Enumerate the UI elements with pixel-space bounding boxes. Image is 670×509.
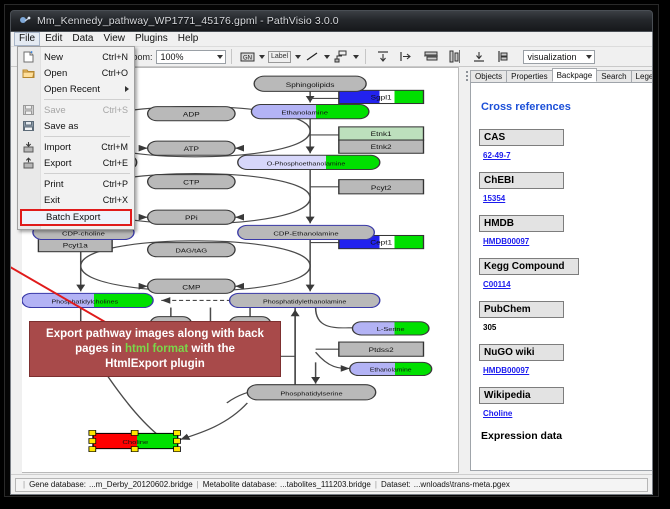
menu-item-accel: Ctrl+E: [103, 158, 128, 168]
node-phosphatidylethanolamine[interactable]: Phosphatidylethanolamine: [230, 293, 380, 307]
metabolite-database-label: Metabolite database:: [203, 480, 277, 489]
node-phosphatidylcholines[interactable]: Phosphatidylcholines: [22, 293, 153, 307]
menu-item-export[interactable]: Export Ctrl+E: [18, 155, 134, 171]
node-label: O-Phosphoethanolamine: [267, 161, 346, 167]
menu-item-print[interactable]: Print Ctrl+P: [18, 176, 134, 192]
toolbar-separator: [365, 49, 366, 64]
node-label: ATP: [184, 145, 200, 153]
tab-properties[interactable]: Properties: [506, 70, 552, 82]
menubar: File Edit Data View Plugins Help: [11, 32, 652, 47]
node-o-phosphoethanolamine[interactable]: O-Phosphoethanolamine: [238, 155, 380, 169]
node-dag-tag[interactable]: DAG/tAG: [148, 243, 235, 257]
tab-legend[interactable]: Legend: [631, 70, 653, 82]
align-middle-icon[interactable]: [447, 49, 464, 65]
annotation-callout: Export pathway images along with back pa…: [29, 321, 281, 377]
pathvisio-app-icon: [19, 15, 31, 27]
align-left-icon[interactable]: [398, 49, 415, 65]
menu-item-batch-export[interactable]: Batch Export: [20, 209, 132, 226]
side-panel-tabs: Objects Properties Backpage Search Legen…: [470, 69, 653, 83]
screenshot-frame: Mm_Kennedy_pathway_WP1771_45176.gpml - P…: [0, 0, 670, 509]
folder-icon: [22, 67, 35, 79]
toolbar-separator: [231, 49, 232, 64]
xref-source-nugo: NuGO wiki: [479, 344, 564, 361]
node-l-serine[interactable]: L-Serine: [352, 322, 428, 335]
menu-item-accel: Ctrl+P: [103, 179, 128, 189]
node-label: CDP-choline: [62, 231, 105, 237]
receptor-shape-icon[interactable]: [333, 49, 350, 65]
xref-value-wikipedia[interactable]: Choline: [483, 409, 645, 418]
xref-source-pubchem: PubChem: [479, 301, 564, 318]
node-cmp[interactable]: CMP: [148, 279, 235, 293]
application-window: File Edit Data View Plugins Help Zoom: 1…: [10, 32, 653, 495]
node-label: CTP: [183, 179, 200, 187]
node-label: Sphingolipids: [286, 81, 335, 89]
menu-item-label: Export: [44, 158, 71, 169]
tab-backpage[interactable]: Backpage: [552, 68, 598, 82]
side-panel: Objects Properties Backpage Search Legen…: [464, 67, 653, 473]
menu-item-save: Save Ctrl+S: [18, 102, 134, 118]
chevron-down-icon: [586, 55, 592, 59]
node-label: Phosphatidylserine: [280, 391, 343, 397]
xref-source-cas: CAS: [479, 129, 564, 146]
status-text-area: | Gene database: ...m_Derby_20120602.bri…: [15, 478, 648, 492]
node-label: CMP: [182, 283, 200, 291]
tab-objects[interactable]: Objects: [470, 70, 507, 82]
metabolite-database-value: ...tabolites_111203.bridge: [280, 480, 371, 489]
menu-separator: [44, 173, 130, 174]
menu-item-label: New: [44, 52, 63, 63]
menu-item-exit[interactable]: Exit Ctrl+X: [18, 192, 134, 208]
expression-data-heading: Expression data: [481, 430, 645, 442]
callout-highlight-text: html format: [125, 343, 188, 355]
xref-value-hmdb[interactable]: HMDB00097: [483, 237, 645, 246]
menu-item-label: Batch Export: [46, 212, 100, 223]
align-center-icon[interactable]: [423, 49, 440, 65]
menu-item-label: Exit: [44, 195, 60, 206]
menu-item-open-recent[interactable]: Open Recent: [18, 81, 134, 97]
menu-item-accel: Ctrl+S: [103, 105, 128, 115]
save-as-icon: [22, 120, 35, 132]
menu-item-open[interactable]: Open Ctrl+O: [18, 65, 134, 81]
menu-item-accel: Ctrl+N: [102, 52, 128, 62]
node-ppi[interactable]: PPi: [148, 210, 235, 224]
chevron-down-icon[interactable]: [259, 55, 265, 59]
node-ctp[interactable]: CTP: [148, 175, 235, 189]
chevron-down-icon: [217, 55, 223, 59]
node-adp[interactable]: ADP: [148, 107, 235, 121]
dataset-label: Dataset:: [381, 480, 411, 489]
callout-line-2-part-b: with the: [188, 343, 235, 355]
xref-source-chebi: ChEBI: [479, 172, 564, 189]
xref-value-cas[interactable]: 62-49-7: [483, 151, 645, 160]
node-sphingolipids[interactable]: Sphingolipids: [254, 76, 366, 91]
export-icon: [22, 157, 35, 169]
rail-dot-icon: [466, 71, 468, 73]
menu-data[interactable]: Data: [67, 32, 98, 46]
window-title: Mm_Kennedy_pathway_WP1771_45176.gpml - P…: [37, 15, 339, 27]
node-label: ADP: [183, 111, 200, 119]
dataset-value: ...wnloads\trans-meta.pgex: [414, 480, 510, 489]
menu-item-accel: Ctrl+M: [101, 142, 128, 152]
menu-item-label: Save as: [44, 121, 78, 132]
menu-help[interactable]: Help: [173, 32, 204, 46]
node-label: CDP-Ethanolamine: [273, 231, 339, 237]
gene-node-pcyt2[interactable]: Pcyt2: [339, 180, 424, 194]
label-icon[interactable]: Label: [268, 49, 292, 65]
gene-label: Sgpl1: [371, 94, 392, 102]
menu-plugins[interactable]: Plugins: [130, 32, 173, 46]
gene-label: Cept1: [370, 239, 392, 247]
menu-item-accel: Ctrl+X: [103, 195, 128, 205]
gene-label: Pcyt1a: [63, 242, 88, 250]
node-label: DAG/tAG: [175, 249, 207, 255]
svg-text:GN: GN: [243, 55, 252, 61]
node-choline-selected[interactable]: Choline: [89, 430, 180, 451]
xref-value-nugo[interactable]: HMDB00097: [483, 366, 645, 375]
save-icon: [22, 104, 35, 116]
xref-source-hmdb: HMDB: [479, 215, 564, 232]
menu-item-label: Import: [44, 142, 71, 153]
gene-label: Pcyt2: [371, 184, 391, 192]
status-divider: |: [375, 480, 377, 489]
chevron-down-icon[interactable]: [324, 55, 330, 59]
import-icon: [22, 141, 35, 153]
status-divider: |: [197, 480, 199, 489]
menu-item-label: Open: [44, 68, 67, 79]
xref-value-pubchem: 305: [483, 323, 645, 332]
menu-separator: [44, 99, 130, 100]
node-atp[interactable]: ATP: [148, 141, 235, 155]
callout-line-3: HtmlExport plugin: [105, 357, 205, 372]
tab-search[interactable]: Search: [596, 70, 631, 82]
node-label: Ethanolamine: [281, 110, 328, 116]
menu-view[interactable]: View: [98, 32, 130, 46]
zoom-value: 100%: [161, 52, 184, 62]
node-ethanolamine-right[interactable]: Ethanolamine: [350, 362, 432, 375]
node-cdp-ethanolamine[interactable]: CDP-Ethanolamine: [238, 225, 375, 239]
visualization-combobox[interactable]: visualization: [523, 50, 595, 64]
chevron-down-icon[interactable]: [295, 55, 301, 59]
chevron-right-icon: [125, 86, 129, 92]
menu-item-new[interactable]: New Ctrl+N: [18, 49, 134, 65]
callout-line-2-part-a: pages in: [75, 343, 125, 355]
stack-icon[interactable]: [495, 49, 512, 65]
status-divider: |: [23, 480, 25, 489]
menu-separator: [44, 136, 130, 137]
menu-item-label: Save: [44, 105, 66, 116]
chevron-down-icon[interactable]: [353, 55, 359, 59]
visualization-value: visualization: [528, 52, 577, 62]
node-label: Phosphatidylethanolamine: [263, 299, 347, 305]
node-label: Ethanolamine: [370, 368, 412, 373]
node-label: L-Serine: [377, 327, 405, 333]
new-file-icon: [22, 51, 35, 63]
xref-value-kegg[interactable]: C00114: [483, 280, 645, 289]
label-tool-split[interactable]: Label: [267, 49, 301, 65]
file-dropdown-menu[interactable]: New Ctrl+N Open Ctrl+O Open Recent: [17, 46, 135, 230]
node-label: Choline: [122, 440, 148, 446]
align-top-icon[interactable]: [375, 49, 392, 65]
rail-dot-icon: [466, 75, 468, 77]
backpage-panel: Cross references CAS 62-49-7 ChEBI 15354…: [470, 83, 653, 471]
gene-database-label: Gene database:: [29, 480, 86, 489]
menu-item-label: Print: [44, 179, 64, 190]
gene-label: Etnk2: [371, 143, 392, 151]
cross-references-heading: Cross references: [481, 101, 645, 113]
menu-edit[interactable]: Edit: [40, 32, 67, 46]
node-phosphatidylserine[interactable]: Phosphatidylserine: [247, 385, 375, 400]
gene-label: Etnk1: [371, 130, 392, 138]
align-bottom-icon[interactable]: [471, 49, 488, 65]
label-tool-text: Label: [268, 51, 291, 63]
datanode-tool-split[interactable]: GN: [238, 49, 265, 65]
datanode-icon[interactable]: GN: [239, 49, 256, 65]
gene-node-sgpl1[interactable]: Sgpl1: [339, 90, 424, 103]
gene-node-pcyt1a[interactable]: Pcyt1a: [38, 239, 112, 252]
shape-tool-split[interactable]: [332, 49, 359, 65]
gene-database-value: ...m_Derby_20120602.bridge: [89, 480, 193, 489]
gene-node-ptdss2[interactable]: Ptdss2: [339, 342, 424, 356]
callout-line-2: pages in html format with the: [75, 342, 235, 357]
node-ethanolamine-top[interactable]: Ethanolamine: [251, 105, 368, 119]
statusbar: | Gene database: ...m_Derby_20120602.bri…: [11, 474, 652, 494]
node-label: Phosphatidylcholines: [51, 299, 118, 305]
xref-value-chebi[interactable]: 15354: [483, 194, 645, 203]
gene-label: Ptdss2: [369, 346, 394, 354]
xref-source-kegg: Kegg Compound: [479, 258, 579, 275]
menu-item-label: Open Recent: [44, 84, 100, 95]
line-tool-split[interactable]: [303, 49, 330, 65]
menu-file[interactable]: File: [14, 32, 40, 46]
window-outer-border: Mm_Kennedy_pathway_WP1771_45176.gpml - P…: [4, 4, 659, 497]
zoom-combobox[interactable]: 100%: [156, 50, 226, 64]
menu-item-save-as[interactable]: Save as: [18, 118, 134, 134]
menu-item-import[interactable]: Import Ctrl+M: [18, 139, 134, 155]
gene-node-etnk2[interactable]: Etnk2: [339, 140, 424, 153]
callout-line-1: Export pathway images along with back: [46, 327, 264, 342]
rail-dot-icon: [466, 79, 468, 81]
line-icon[interactable]: [304, 49, 321, 65]
window-titlebar: Mm_Kennedy_pathway_WP1771_45176.gpml - P…: [10, 10, 653, 32]
node-label: PPi: [185, 214, 198, 222]
xref-source-wikipedia: Wikipedia: [479, 387, 564, 404]
menu-item-accel: Ctrl+O: [102, 68, 128, 78]
gene-node-etnk1[interactable]: Etnk1: [339, 127, 424, 140]
